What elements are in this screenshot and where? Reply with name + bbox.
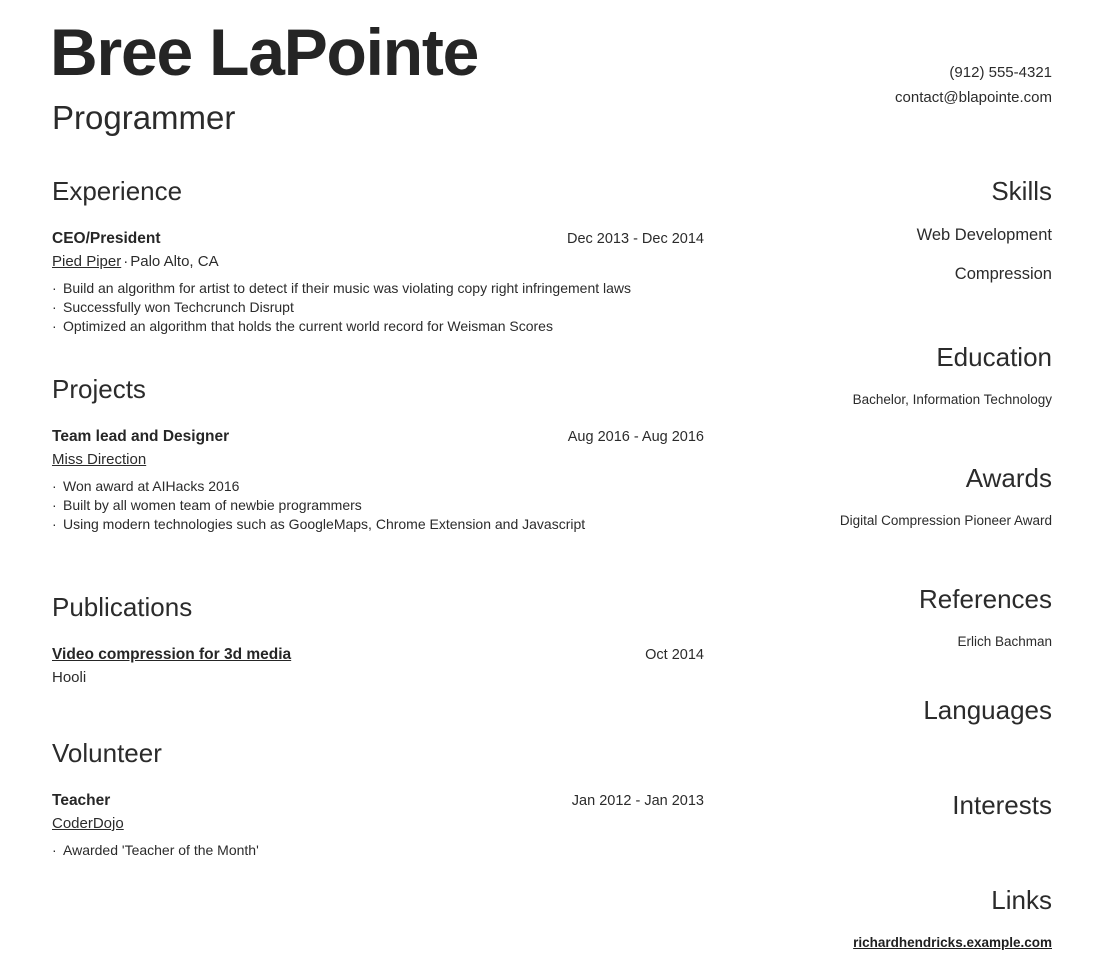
- entry-bullet-list: ·Won award at AIHacks 2016 ·Built by all…: [52, 477, 704, 534]
- section-awards: Awards Digital Compression Pioneer Award: [752, 463, 1052, 530]
- bullet-text: Won award at AIHacks 2016: [63, 478, 239, 494]
- bullet-dot-icon: ·: [52, 317, 57, 336]
- page-title: Bree LaPointe: [50, 14, 478, 90]
- section-heading-education: Education: [752, 342, 1052, 372]
- section-spacer: [52, 538, 704, 592]
- section-publications: Publications Video compression for 3d me…: [52, 592, 704, 688]
- section-languages: Languages: [752, 695, 1052, 725]
- bullet-text: Built by all women team of newbie progra…: [63, 497, 362, 513]
- job-role-subtitle: Programmer: [52, 99, 235, 137]
- section-heading-awards: Awards: [752, 463, 1052, 493]
- entry-subtitle: Miss Direction: [52, 449, 704, 470]
- section-heading-references: References: [752, 584, 1052, 614]
- section-spacer: [52, 340, 704, 374]
- entry-header-row: CEO/President Dec 2013 - Dec 2014: [52, 228, 704, 250]
- side-column: Skills Web Development Compression Educa…: [752, 176, 1052, 963]
- section-spacer: [52, 692, 704, 738]
- entry-bullet-list: ·Build an algorithm for artist to detect…: [52, 279, 704, 336]
- contact-email[interactable]: contact@blapointe.com: [895, 85, 1052, 110]
- entry-date: Jan 2012 - Jan 2013: [572, 791, 704, 812]
- project-entry: Team lead and Designer Aug 2016 - Aug 20…: [52, 426, 704, 534]
- list-item: ·Awarded 'Teacher of the Month': [52, 841, 704, 860]
- education-item: Bachelor, Information Technology: [752, 390, 1052, 409]
- side-section-spacer: [752, 665, 1052, 695]
- bullet-text: Build an algorithm for artist to detect …: [63, 280, 631, 296]
- entry-title: Teacher: [52, 790, 110, 811]
- entry-bullet-list: ·Awarded 'Teacher of the Month': [52, 841, 704, 860]
- contact-phone[interactable]: (912) 555-4321: [895, 60, 1052, 85]
- section-heading-volunteer: Volunteer: [52, 738, 704, 768]
- list-item: ·Successfully won Techcrunch Disrupt: [52, 298, 704, 317]
- section-education: Education Bachelor, Information Technolo…: [752, 342, 1052, 409]
- list-item: ·Using modern technologies such as Googl…: [52, 515, 704, 534]
- entry-header-row: Team lead and Designer Aug 2016 - Aug 20…: [52, 426, 704, 448]
- entry-date: Dec 2013 - Dec 2014: [567, 229, 704, 250]
- section-heading-experience: Experience: [52, 176, 704, 206]
- section-projects: Projects Team lead and Designer Aug 2016…: [52, 374, 704, 534]
- entry-location: Palo Alto, CA: [130, 253, 218, 270]
- entry-title: Team lead and Designer: [52, 426, 229, 447]
- volunteer-entry: Teacher Jan 2012 - Jan 2013 CoderDojo ·A…: [52, 790, 704, 860]
- bullet-dot-icon: ·: [52, 298, 57, 317]
- side-section-spacer: [752, 544, 1052, 584]
- bullet-text: Optimized an algorithm that holds the cu…: [63, 318, 553, 334]
- entry-title: CEO/President: [52, 228, 161, 249]
- publication-entry: Video compression for 3d media Oct 2014 …: [52, 644, 704, 688]
- award-item: Digital Compression Pioneer Award: [752, 511, 1052, 530]
- section-skills: Skills Web Development Compression: [752, 176, 1052, 285]
- list-item: ·Optimized an algorithm that holds the c…: [52, 317, 704, 336]
- section-heading-publications: Publications: [52, 592, 704, 622]
- entry-date: Oct 2014: [645, 645, 704, 666]
- bullet-dot-icon: ·: [52, 279, 57, 298]
- entry-title[interactable]: Video compression for 3d media: [52, 644, 291, 665]
- section-heading-links: Links: [752, 885, 1052, 915]
- bullet-dot-icon: ·: [52, 477, 57, 496]
- resume-page: Bree LaPointe Programmer (912) 555-4321 …: [0, 0, 1104, 963]
- main-column: Experience CEO/President Dec 2013 - Dec …: [52, 176, 704, 864]
- entry-subtitle: Pied Piper·Palo Alto, CA: [52, 251, 704, 272]
- list-item: ·Build an algorithm for artist to detect…: [52, 279, 704, 298]
- section-volunteer: Volunteer Teacher Jan 2012 - Jan 2013 Co…: [52, 738, 704, 860]
- section-links: Links richardhendricks.example.com: [752, 885, 1052, 952]
- section-heading-interests: Interests: [752, 790, 1052, 820]
- side-section-spacer: [752, 423, 1052, 463]
- entry-header-row: Teacher Jan 2012 - Jan 2013: [52, 790, 704, 812]
- list-item: ·Won award at AIHacks 2016: [52, 477, 704, 496]
- bullet-text: Using modern technologies such as Google…: [63, 516, 585, 532]
- list-item: ·Built by all women team of newbie progr…: [52, 496, 704, 515]
- entry-subtitle: Hooli: [52, 667, 704, 688]
- bullet-text: Successfully won Techcrunch Disrupt: [63, 299, 294, 315]
- link-item[interactable]: richardhendricks.example.com: [752, 933, 1052, 952]
- entry-organization[interactable]: Miss Direction: [52, 451, 146, 468]
- bullet-text: Awarded 'Teacher of the Month': [63, 842, 259, 858]
- entry-header-row: Video compression for 3d media Oct 2014: [52, 644, 704, 666]
- entry-subtitle: CoderDojo: [52, 813, 704, 834]
- section-experience: Experience CEO/President Dec 2013 - Dec …: [52, 176, 704, 336]
- entry-separator: ·: [121, 253, 130, 270]
- contact-block: (912) 555-4321 contact@blapointe.com: [895, 60, 1052, 110]
- bullet-dot-icon: ·: [52, 841, 57, 860]
- section-heading-languages: Languages: [752, 695, 1052, 725]
- side-section-spacer: [752, 838, 1052, 885]
- bullet-dot-icon: ·: [52, 496, 57, 515]
- skill-item: Compression: [752, 263, 1052, 285]
- entry-organization: Hooli: [52, 669, 86, 686]
- experience-entry: CEO/President Dec 2013 - Dec 2014 Pied P…: [52, 228, 704, 336]
- section-heading-projects: Projects: [52, 374, 704, 404]
- section-interests: Interests: [752, 790, 1052, 820]
- reference-item: Erlich Bachman: [752, 632, 1052, 651]
- bullet-dot-icon: ·: [52, 515, 57, 534]
- side-section-spacer: [752, 743, 1052, 790]
- entry-organization[interactable]: CoderDojo: [52, 815, 124, 832]
- section-references: References Erlich Bachman: [752, 584, 1052, 651]
- entry-date: Aug 2016 - Aug 2016: [568, 427, 704, 448]
- entry-organization[interactable]: Pied Piper: [52, 253, 121, 270]
- side-section-spacer: [752, 302, 1052, 342]
- section-heading-skills: Skills: [752, 176, 1052, 206]
- skill-item: Web Development: [752, 224, 1052, 246]
